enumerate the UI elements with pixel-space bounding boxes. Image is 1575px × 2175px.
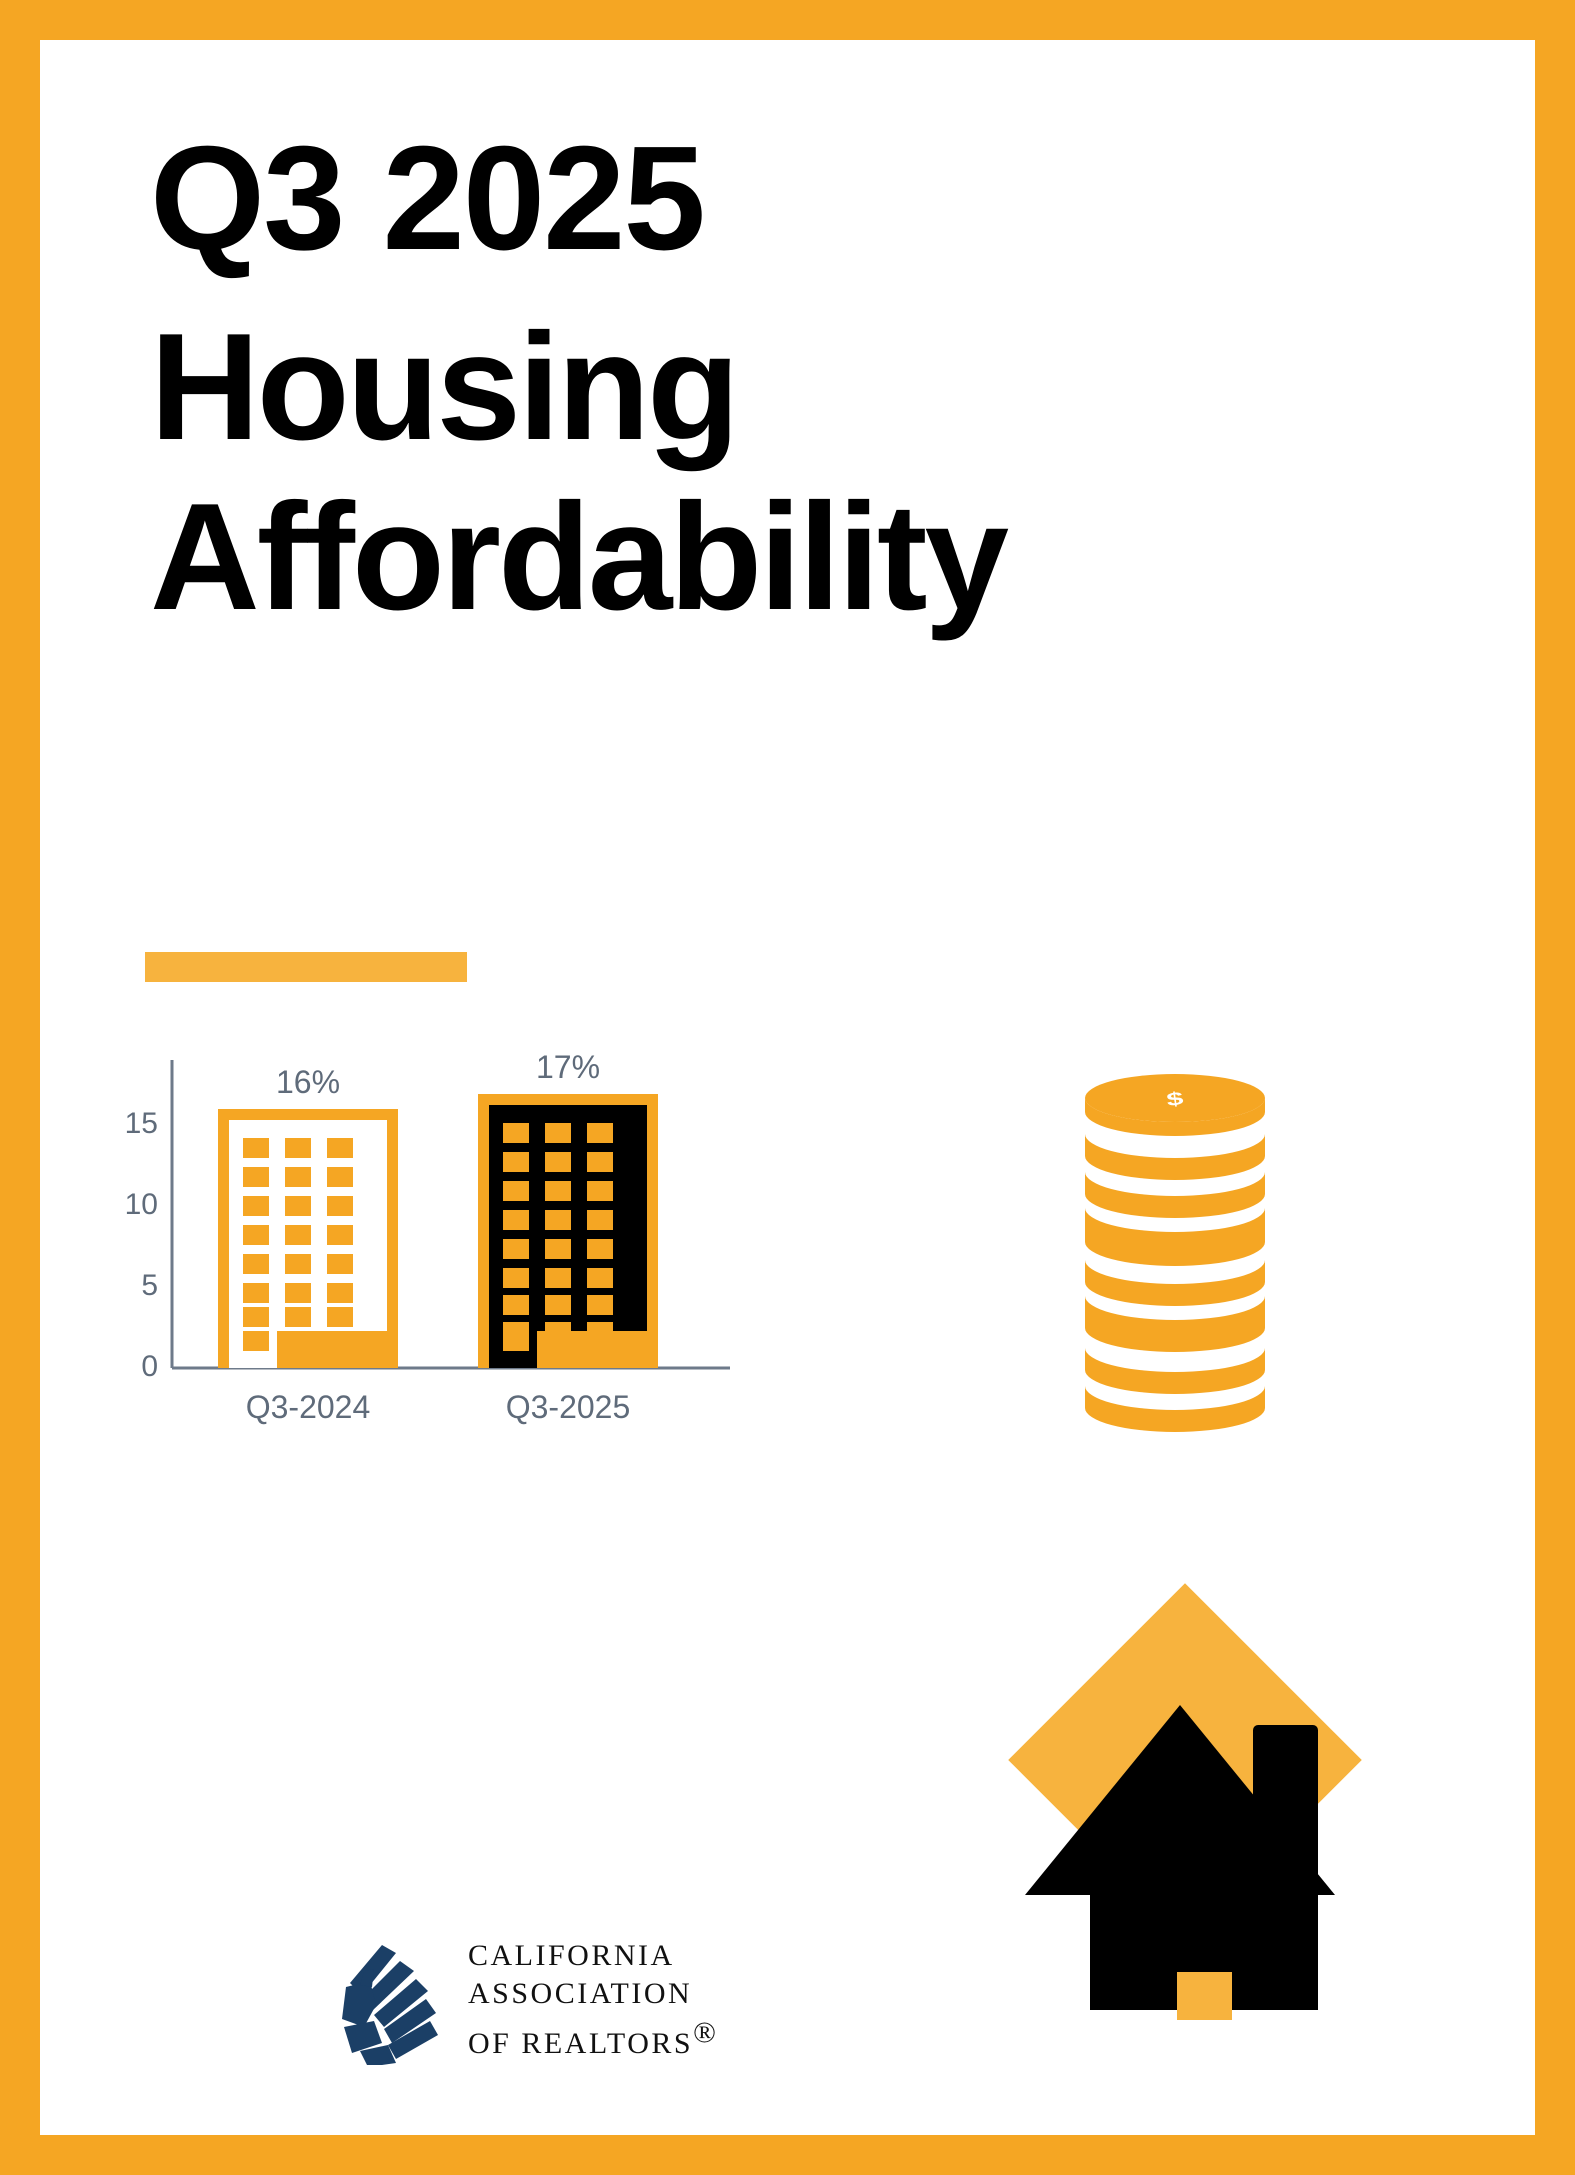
california-association-of-realtors-logo: CALIFORNIA ASSOCIATION OF REALTORS®: [330, 1920, 730, 2080]
coin-stack-icon: $: [1080, 1060, 1270, 1450]
title-line-housing: Housing: [150, 311, 1450, 463]
poster-root: Q3 2025 Housing Affordability 0 5 10 15: [0, 0, 1575, 2175]
registered-trademark-icon: ®: [693, 2016, 716, 2049]
logo-line-association: ASSOCIATION: [468, 1975, 716, 2013]
house-svg: [965, 1540, 1395, 2020]
chart-ytick-15: 15: [125, 1107, 158, 1140]
chart-ytick-0: 0: [141, 1350, 158, 1383]
chart-bar-q3-2024[interactable]: 16%: [218, 1064, 398, 1368]
logo-line-of-realtors-text: OF REALTORS: [468, 2027, 693, 2060]
bar-2-entrance: [537, 1331, 647, 1368]
chart-xtick-q3-2025: Q3-2025: [506, 1389, 631, 1425]
bar-1-window-lower-left: [243, 1331, 269, 1351]
svg-text:$: $: [1165, 1088, 1185, 1111]
bar-1-entrance: [277, 1331, 387, 1368]
logo-line-california: CALIFORNIA: [468, 1937, 716, 1975]
chart-svg: 0 5 10 15: [100, 1050, 760, 1450]
title-line-affordability: Affordability: [150, 481, 1450, 633]
house-door: [1177, 1972, 1232, 2020]
logo-line-of-realtors: OF REALTORS®: [468, 2014, 716, 2063]
car-logo-mark-icon: [330, 1935, 450, 2065]
chart-ytick-10: 10: [125, 1188, 158, 1221]
title-accent-bar: [145, 952, 467, 982]
chart-ytick-5: 5: [141, 1269, 158, 1302]
chart-label-q3-2024: 16%: [276, 1064, 340, 1100]
chart-xtick-q3-2024: Q3-2024: [246, 1389, 371, 1425]
poster-inner-panel: Q3 2025 Housing Affordability 0 5 10 15: [40, 40, 1535, 2135]
affordability-bar-chart: 0 5 10 15: [100, 1050, 760, 1450]
chart-bar-q3-2025[interactable]: 17%: [478, 1050, 658, 1368]
car-logo-wordmark: CALIFORNIA ASSOCIATION OF REALTORS®: [468, 1937, 716, 2063]
chart-label-q3-2025: 17%: [536, 1050, 600, 1085]
house-icon: [965, 1540, 1395, 2020]
bar-2-window-lower-left: [503, 1331, 529, 1351]
page-title: Q3 2025 Housing Affordability: [150, 125, 1450, 633]
coin-stack-svg: $: [1080, 1060, 1270, 1450]
dollar-sign-icon: $: [1165, 1088, 1185, 1111]
title-quarter: Q3 2025: [150, 125, 1450, 273]
bar-1-windows: [243, 1138, 353, 1351]
